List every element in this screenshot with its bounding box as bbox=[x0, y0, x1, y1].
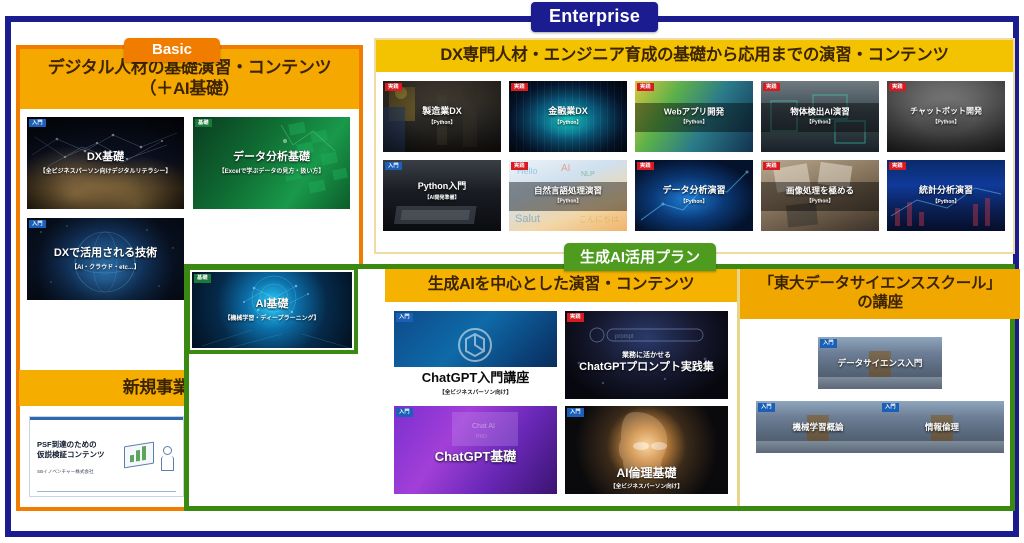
newbiz-card-company: SBイノベンチャー株式会社 bbox=[37, 469, 122, 475]
course-card-caption: データ分析基礎 【Excelで学ぶデータの見方・扱い方】 bbox=[193, 150, 350, 174]
course-level-badge: 入門 bbox=[29, 119, 46, 128]
course-card-caption: AI基礎 【機械学習・ディープラーニング】 bbox=[192, 298, 352, 322]
todai-heading: 「東大データサイエンススクール」 の講座 bbox=[740, 269, 1020, 319]
course-subtitle: 【Python】 bbox=[890, 118, 1002, 125]
course-level-badge: 入門 bbox=[882, 403, 899, 412]
person-head bbox=[163, 446, 172, 455]
course-title: ChatGPT入門講座 bbox=[397, 370, 554, 386]
course-subtitle: 【Python】 bbox=[386, 119, 498, 126]
course-title: 画像処理を極める bbox=[764, 186, 876, 196]
course-card-caption: ChatGPT入門講座 【全ビジネスパーソン向け】 bbox=[394, 370, 557, 396]
genai-card-row-2: Chat AI PRO 入門 ChatGPT基礎 bbox=[394, 406, 728, 494]
todai-card-row-2: 入門 機械学習概論 入門 情報倫理 bbox=[754, 401, 1006, 453]
enterprise-badge: Enterprise bbox=[531, 2, 658, 32]
course-title: 金融業DX bbox=[512, 106, 624, 117]
course-title: Webアプリ開発 bbox=[638, 107, 750, 117]
course-level-badge: 入門 bbox=[567, 408, 584, 417]
dx-panel: DX専門人材・エンジニア育成の基礎から応用までの演習・コンテンツ 実 bbox=[374, 38, 1015, 254]
course-card-chatbot[interactable]: 実践 チャットボット開発 【Python】 bbox=[887, 81, 1005, 152]
course-card-caption: 製造業DX 【Python】 bbox=[383, 106, 501, 126]
course-card-data-bunseki-enshu[interactable]: 実践 データ分析演習 【Python】 bbox=[635, 160, 753, 231]
course-card-caption: 画像処理を極める 【Python】 bbox=[761, 186, 879, 205]
course-subtitle: 【全ビジネスパーソン向け】 bbox=[397, 388, 554, 396]
course-card-data-science-nyumon[interactable]: 入門 データサイエンス入門 bbox=[818, 337, 942, 389]
course-subtitle: 【AI・クラウド・etc…】 bbox=[30, 262, 181, 271]
course-level-badge: 入門 bbox=[385, 162, 402, 171]
accent-bar bbox=[30, 417, 183, 420]
svg-text:PRO: PRO bbox=[476, 434, 487, 440]
course-title: 製造業DX bbox=[386, 106, 498, 117]
course-level-badge: 実践 bbox=[637, 83, 654, 92]
course-card-caption: AI倫理基礎 【全ビジネスパーソン向け】 bbox=[565, 466, 728, 490]
course-subtitle: 【機械学習・ディープラーニング】 bbox=[195, 313, 349, 322]
course-card-caption: 物体検出AI演習 【Python】 bbox=[761, 107, 879, 126]
course-card-dx-kiso[interactable]: 入門 DX基礎 【全ビジネスパーソン向けデジタルリテラシー】 bbox=[27, 117, 184, 209]
svg-text:こんにちは: こんにちは bbox=[579, 215, 619, 224]
course-card-jouhou-rinri[interactable]: 入門 情報倫理 bbox=[880, 401, 1004, 453]
course-level-badge: 実践 bbox=[889, 162, 906, 171]
course-subtitle: 【全ビジネスパーソン向けデジタルリテラシー】 bbox=[30, 166, 181, 175]
building-base-decor bbox=[756, 441, 880, 452]
course-title: 物体検出AI演習 bbox=[764, 107, 876, 117]
course-card-caption: DXで活用される技術 【AI・クラウド・etc…】 bbox=[27, 246, 184, 270]
course-level-badge: 実践 bbox=[511, 83, 528, 92]
course-card-caption: DX基礎 【全ビジネスパーソン向けデジタルリテラシー】 bbox=[27, 150, 184, 174]
svg-text:AI: AI bbox=[561, 163, 570, 174]
course-level-badge: 入門 bbox=[758, 403, 775, 412]
course-title: DX基礎 bbox=[30, 150, 181, 163]
todai-card-row-1: 入門 データサイエンス入門 bbox=[754, 337, 1006, 389]
course-subtitle: 【Python】 bbox=[638, 119, 750, 126]
course-card-kinyuugyou-dx[interactable]: 実践 金融業DX 【Python】 bbox=[509, 81, 627, 152]
course-title: 統計分析演習 bbox=[890, 185, 1002, 196]
course-subtitle: 【Python】 bbox=[764, 198, 876, 205]
course-title: Python入門 bbox=[386, 181, 498, 192]
genai-course-column: 生成AIを中心とした演習・コンテンツ bbox=[385, 269, 740, 506]
course-title: データ分析演習 bbox=[638, 185, 750, 196]
course-level-badge: 基礎 bbox=[195, 119, 212, 128]
course-card-caption: 業務に活かせる ChatGPTプロンプト実践集 bbox=[565, 350, 728, 374]
course-subtitle: 【AI開発準備】 bbox=[386, 194, 498, 201]
course-level-badge: 実践 bbox=[763, 162, 780, 171]
course-title: AI倫理基礎 bbox=[568, 466, 725, 480]
presentation-illustration-icon bbox=[122, 434, 176, 482]
course-card-data-bunseki-kiso[interactable]: 基礎 データ分析基礎 【Excelで学ぶデータの見方・扱い方】 bbox=[193, 117, 350, 209]
course-card-chatgpt-prompt[interactable]: prompt 実践 業務に活かせる bbox=[565, 311, 728, 399]
basic-heading-line2: （＋AI基礎） bbox=[26, 78, 353, 99]
genai-plan-badge: 生成AI活用プラン bbox=[564, 243, 716, 271]
course-title: 自然言語処理演習 bbox=[512, 186, 624, 196]
course-level-badge: 実践 bbox=[511, 162, 528, 171]
course-level-badge: 実践 bbox=[637, 162, 654, 171]
newbiz-card-text: PSF到達のための 仮説検証コンテンツ SBイノベンチャー株式会社 bbox=[37, 440, 122, 475]
slide-canvas: Enterprise デジタル人材の基礎演習・コンテンツ （＋AI基礎） bbox=[0, 0, 1024, 543]
dx-card-row-2: 入門 Python入門 【AI開発準備】 Hello AI NLP Salut … bbox=[383, 160, 1006, 231]
course-card-web-app[interactable]: 実践 Webアプリ開発 【Python】 bbox=[635, 81, 753, 152]
svg-text:prompt: prompt bbox=[615, 334, 634, 340]
dx-panel-heading: DX専門人材・エンジニア育成の基礎から応用までの演習・コンテンツ bbox=[376, 40, 1013, 72]
course-level-badge: 入門 bbox=[820, 339, 837, 348]
card-footer-rule bbox=[37, 491, 176, 492]
course-subtitle: 【Python】 bbox=[638, 198, 750, 205]
newbiz-card-title-line2: 仮説検証コンテンツ bbox=[37, 450, 122, 460]
course-subtitle: 【全ビジネスパーソン向け】 bbox=[568, 482, 725, 490]
course-subtitle: 【Python】 bbox=[512, 119, 624, 126]
course-level-badge: 実践 bbox=[385, 83, 402, 92]
bar-1 bbox=[130, 454, 134, 462]
genai-card-grid: 入門 ChatGPT入門講座 【全ビジネスパーソン向け】 prompt bbox=[385, 302, 737, 494]
ai-kiso-highlight-frame: 基礎 AI基礎 【機械学習・ディープラーニング】 bbox=[186, 266, 358, 354]
course-title: データサイエンス入門 bbox=[821, 358, 939, 368]
course-card-toukei-bunseki[interactable]: 実践 統計分析演習 【Python】 bbox=[887, 160, 1005, 231]
todai-card-grid: 入門 データサイエンス入門 入門 機械学習概論 bbox=[740, 319, 1020, 453]
todai-column: 「東大データサイエンススクール」 の講座 入門 データサイエンス入門 bbox=[740, 269, 1020, 506]
course-level-badge: 基礎 bbox=[194, 274, 211, 283]
course-card-caption: データ分析演習 【Python】 bbox=[635, 185, 753, 205]
course-card-caption: 機械学習概論 bbox=[756, 422, 880, 432]
course-level-badge: 実践 bbox=[889, 83, 906, 92]
newbiz-card-psf[interactable]: PSF到達のための 仮説検証コンテンツ SBイノベンチャー株式会社 bbox=[29, 416, 184, 497]
course-card-caption: 自然言語処理演習 【Python】 bbox=[509, 186, 627, 205]
dx-card-row-1: 実践 製造業DX 【Python】 実践 金融業DX 【Python】 bbox=[383, 81, 1006, 152]
course-card-caption: 情報倫理 bbox=[880, 422, 1004, 432]
dx-card-grid: 実践 製造業DX 【Python】 実践 金融業DX 【Python】 bbox=[376, 72, 1013, 231]
course-card-kikai-gakushu-gairon[interactable]: 入門 機械学習概論 bbox=[756, 401, 880, 453]
course-title: データ分析基礎 bbox=[196, 150, 347, 163]
course-card-caption: 金融業DX 【Python】 bbox=[509, 106, 627, 126]
course-card-python-nyumon[interactable]: 入門 Python入門 【AI開発準備】 bbox=[383, 160, 501, 231]
course-card-shizen-gengo[interactable]: Hello AI NLP Salut こんにちは 実践 自然言語処理演習 【Py… bbox=[509, 160, 627, 231]
person-body bbox=[161, 456, 174, 471]
course-level-badge: 入門 bbox=[396, 408, 413, 417]
course-title: 機械学習概論 bbox=[759, 422, 877, 432]
monitor-icon bbox=[124, 441, 154, 468]
course-card-gazou-shori[interactable]: 実践 画像処理を極める 【Python】 bbox=[761, 160, 879, 231]
person-icon bbox=[161, 446, 174, 472]
course-card-caption: Webアプリ開発 【Python】 bbox=[635, 107, 753, 126]
basic-badge: Basic bbox=[124, 38, 220, 62]
svg-text:Chat AI: Chat AI bbox=[472, 423, 495, 430]
course-card-chatgpt-nyumon[interactable]: 入門 ChatGPT入門講座 【全ビジネスパーソン向け】 bbox=[394, 311, 557, 399]
todai-heading-line1: 「東大データサイエンススクール」 bbox=[746, 274, 1014, 293]
course-card-caption: チャットボット開発 【Python】 bbox=[887, 107, 1005, 126]
genai-heading: 生成AIを中心とした演習・コンテンツ bbox=[385, 269, 737, 302]
svg-text:Salut: Salut bbox=[515, 213, 540, 225]
genai-card-row-1: 入門 ChatGPT入門講座 【全ビジネスパーソン向け】 prompt bbox=[394, 311, 728, 399]
course-subtitle: 【Python】 bbox=[764, 119, 876, 126]
course-title: 情報倫理 bbox=[883, 422, 1001, 432]
course-subtitle: 【Python】 bbox=[890, 198, 1002, 205]
todai-heading-line2: の講座 bbox=[746, 293, 1014, 312]
course-card-ai-rinri[interactable]: 入門 AI倫理基礎 【全ビジネスパーソン向け】 bbox=[565, 406, 728, 494]
course-subtitle: 【Excelで学ぶデータの見方・扱い方】 bbox=[196, 166, 347, 175]
course-title: ChatGPTプロンプト実践集 bbox=[568, 361, 725, 374]
course-card-chatgpt-kiso[interactable]: Chat AI PRO 入門 ChatGPT基礎 bbox=[394, 406, 557, 494]
course-card-dx-katsuyou[interactable]: 入門 DXで活用される技術 【AI・クラウド・etc…】 bbox=[27, 218, 184, 300]
course-title: DXで活用される技術 bbox=[30, 246, 181, 259]
course-level-badge: 入門 bbox=[29, 220, 46, 229]
course-title: ChatGPT基礎 bbox=[397, 449, 554, 465]
bar-3 bbox=[142, 445, 146, 460]
bar-2 bbox=[136, 449, 140, 461]
course-card-caption: ChatGPT基礎 bbox=[394, 449, 557, 465]
newbiz-card-title-line1: PSF到達のための bbox=[37, 440, 122, 450]
course-card-caption: データサイエンス入門 bbox=[818, 358, 942, 368]
building-base-decor bbox=[818, 377, 942, 388]
course-level-badge: 入門 bbox=[396, 313, 413, 322]
course-title: チャットボット開発 bbox=[890, 107, 1002, 117]
course-card-buttai-kenshutsu[interactable]: 実践 物体検出AI演習 【Python】 bbox=[761, 81, 879, 152]
course-level-badge: 実践 bbox=[763, 83, 780, 92]
course-level-badge: 実践 bbox=[567, 313, 584, 322]
course-card-ai-kiso[interactable]: 基礎 AI基礎 【機械学習・ディープラーニング】 bbox=[192, 272, 352, 348]
building-base-decor bbox=[880, 441, 1004, 452]
course-card-caption: Python入門 【AI開発準備】 bbox=[383, 181, 501, 201]
course-eyebrow: 業務に活かせる bbox=[568, 350, 725, 360]
course-card-seizougyou-dx[interactable]: 実践 製造業DX 【Python】 bbox=[383, 81, 501, 152]
course-title: AI基礎 bbox=[195, 298, 349, 311]
course-card-caption: 統計分析演習 【Python】 bbox=[887, 185, 1005, 205]
course-subtitle: 【Python】 bbox=[512, 198, 624, 205]
svg-text:NLP: NLP bbox=[581, 171, 595, 178]
